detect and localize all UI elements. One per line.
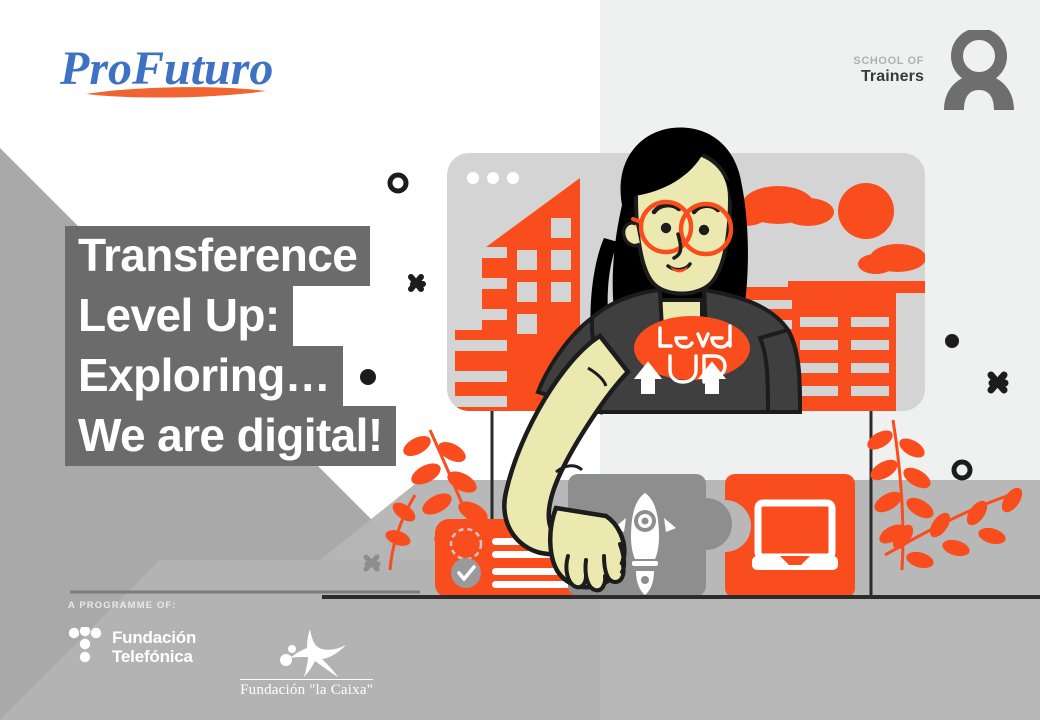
profuturo-logo-mark: ProFuturo <box>58 36 288 108</box>
title-line-2: Level Up: <box>65 286 293 346</box>
school-label-bottom: Trainers <box>853 68 924 85</box>
title-line-4: We are digital! <box>65 406 396 466</box>
slide-canvas: ProFuturo SCHOOL OF Trainers Transferenc… <box>0 0 1040 720</box>
fundacion-telefonica-logo[interactable]: Fundación Telefónica <box>68 627 196 667</box>
telefonica-line-2: Telefónica <box>112 647 196 666</box>
person-icon <box>938 30 1020 112</box>
profuturo-wordmark: ProFuturo <box>59 42 273 95</box>
title-line-1: Transference <box>65 226 370 286</box>
puzzle-piece-laptop <box>725 474 855 598</box>
telefonica-dots-icon <box>68 627 102 667</box>
title-line-3: Exploring… <box>65 346 343 406</box>
leaf-branch-right <box>864 420 1026 571</box>
school-label-top: SCHOOL OF <box>853 56 924 68</box>
fundacion-la-caixa-logo[interactable]: Fundación "la Caixa" <box>240 627 373 699</box>
profuturo-logo[interactable]: ProFuturo <box>58 36 288 108</box>
page-title: Transference Level Up: Exploring… We are… <box>65 226 396 466</box>
la-caixa-star-icon <box>252 627 362 677</box>
school-of-trainers-badge: SCHOOL OF Trainers <box>853 30 1020 112</box>
la-caixa-wordmark: Fundación "la Caixa" <box>240 679 373 699</box>
footer-sponsors: A PROGRAMME OF: Fundación Telefónica <box>68 600 373 699</box>
telefonica-line-1: Fundación <box>112 628 196 647</box>
programme-of-label: A PROGRAMME OF: <box>68 600 373 611</box>
